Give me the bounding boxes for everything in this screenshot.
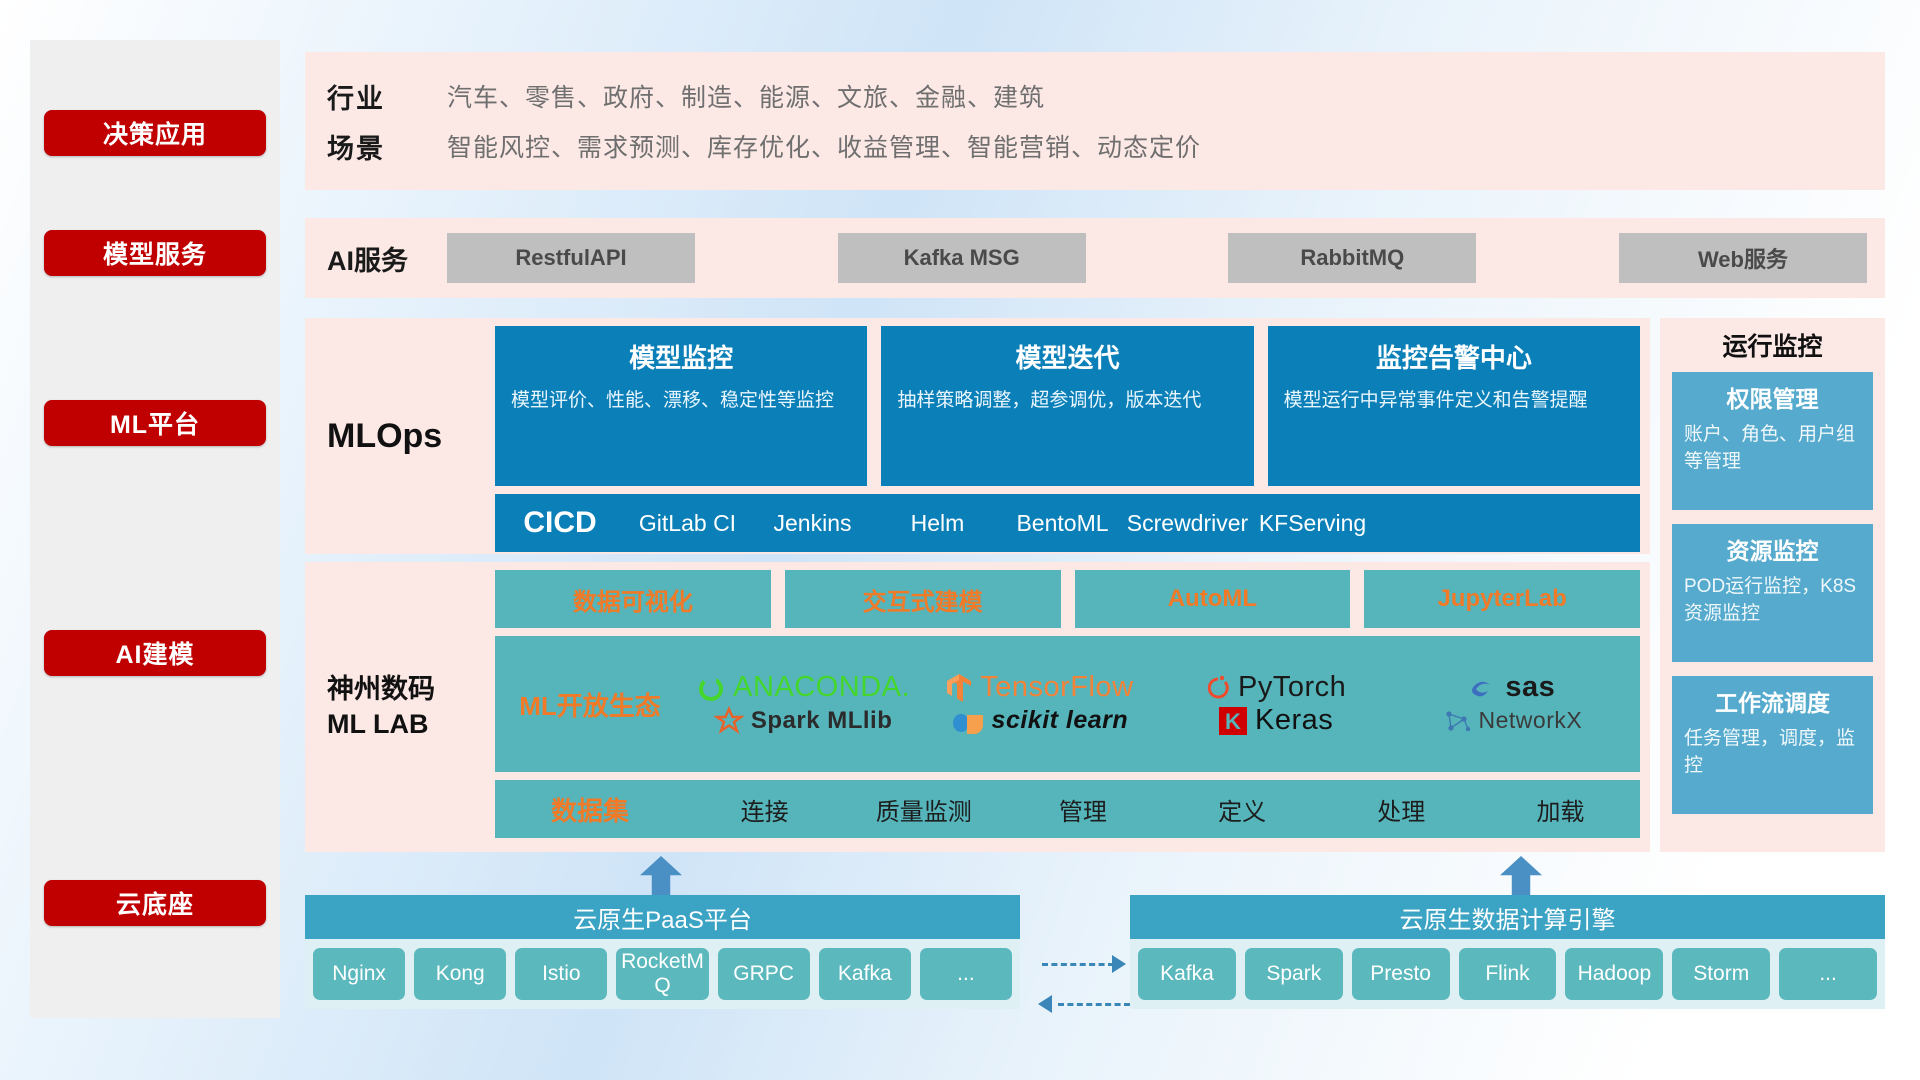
- ai-service-chip-rabbitmq[interactable]: RabbitMQ: [1228, 233, 1476, 283]
- ai-modeling-band: 神州数码 ML LAB 数据可视化 交互式建模 AutoML JupyterLa…: [305, 562, 1650, 852]
- arrow-up-data-engine: [1500, 856, 1542, 896]
- dashed-arrow-left-icon: [1038, 995, 1052, 1013]
- data-engine-chip-spark[interactable]: Spark: [1245, 948, 1343, 1000]
- cicd-row: CICD GitLab CI Jenkins Helm BentoML Scre…: [495, 494, 1640, 552]
- sas-icon: [1468, 673, 1498, 703]
- rail-item-decision-app[interactable]: 决策应用: [44, 110, 266, 156]
- mlops-label: MLOps: [327, 318, 487, 554]
- card-title: 资源监控: [1684, 532, 1861, 566]
- ai-service-chip-web[interactable]: Web服务: [1619, 233, 1867, 283]
- data-engine-chip-flink[interactable]: Flink: [1459, 948, 1557, 1000]
- sas-logo: sas: [1468, 671, 1555, 704]
- keras-icon: K: [1218, 706, 1248, 736]
- cicd-label: CICD: [495, 506, 625, 540]
- card-desc: 模型评价、性能、漂移、稳定性等监控: [511, 387, 851, 415]
- paas-chip-rocketmq[interactable]: RocketMQ: [616, 948, 708, 1000]
- ml-ecosystem-title: ML开放生态: [495, 686, 685, 723]
- tool-chip-interactive-modeling[interactable]: 交互式建模: [785, 570, 1061, 628]
- data-engine-chip-presto[interactable]: Presto: [1352, 948, 1450, 1000]
- networkx-logo: NetworkX: [1442, 706, 1583, 736]
- anaconda-label: ANACONDA.: [733, 671, 910, 704]
- rail-label: AI建模: [115, 635, 194, 671]
- paas-foundation: 云原生PaaS平台 Nginx Kong Istio RocketMQ GRPC…: [305, 895, 1020, 1009]
- mlops-band: MLOps 模型监控 模型评价、性能、漂移、稳定性等监控 模型迭代 抽样策略调整…: [305, 318, 1650, 554]
- ai-service-band: AI服务 RestfulAPI Kafka MSG RabbitMQ Web服务: [305, 218, 1885, 298]
- ml-lab-label-line1: 神州数码: [327, 672, 435, 707]
- rail-label: ML平台: [110, 405, 200, 441]
- tensorflow-logo: TensorFlow: [945, 671, 1133, 704]
- dataset-row: 数据集 连接 质量监测 管理 定义 处理 加载: [495, 780, 1640, 838]
- card-title: 监控告警中心: [1284, 338, 1624, 375]
- dataset-item-define[interactable]: 定义: [1163, 792, 1322, 827]
- data-engine-chip-kafka[interactable]: Kafka: [1138, 948, 1236, 1000]
- cicd-item-jenkins[interactable]: Jenkins: [750, 508, 875, 538]
- industry-values: 汽车、零售、政府、制造、能源、文旅、金融、建筑: [447, 78, 1045, 114]
- dashed-line-left: [1058, 1003, 1130, 1006]
- mlops-card-model-monitoring[interactable]: 模型监控 模型评价、性能、漂移、稳定性等监控: [495, 326, 867, 486]
- paas-chip-grpc[interactable]: GRPC: [718, 948, 810, 1000]
- paas-chip-more[interactable]: ...: [920, 948, 1012, 1000]
- industry-row: 行业 汽车、零售、政府、制造、能源、文旅、金融、建筑: [327, 71, 1885, 121]
- card-desc: 账户、角色、用户组等管理: [1684, 422, 1861, 475]
- paas-chips: Nginx Kong Istio RocketMQ GRPC Kafka ...: [305, 939, 1020, 1009]
- cicd-item-screwdriver[interactable]: Screwdriver: [1125, 508, 1250, 538]
- paas-chip-istio[interactable]: Istio: [515, 948, 607, 1000]
- ml-lab-label: 神州数码 ML LAB: [327, 562, 497, 852]
- pytorch-logo: PyTorch: [1205, 671, 1346, 704]
- cicd-item-helm[interactable]: Helm: [875, 508, 1000, 538]
- dashed-line-right: [1042, 963, 1114, 966]
- runtime-monitor-title: 运行监控: [1660, 318, 1885, 372]
- monitor-card-resource[interactable]: 资源监控 POD运行监控，K8S资源监控: [1672, 524, 1873, 662]
- industry-label: 行业: [327, 77, 447, 116]
- spark-star-icon: [714, 706, 744, 736]
- dataset-item-quality[interactable]: 质量监测: [844, 792, 1003, 827]
- rail-item-ai-modeling[interactable]: AI建模: [44, 630, 266, 676]
- paas-chip-kong[interactable]: Kong: [414, 948, 506, 1000]
- data-engine-chip-hadoop[interactable]: Hadoop: [1565, 948, 1663, 1000]
- rail-label: 模型服务: [103, 235, 207, 271]
- spark-mllib-label: Spark MLlib: [751, 707, 893, 735]
- tool-chip-data-visualization[interactable]: 数据可视化: [495, 570, 771, 628]
- card-desc: 模型运行中异常事件定义和告警提醒: [1284, 387, 1624, 415]
- card-title: 权限管理: [1684, 380, 1861, 414]
- mlops-card-model-iteration[interactable]: 模型迭代 抽样策略调整，超参调优，版本迭代: [881, 326, 1253, 486]
- svg-text:K: K: [1225, 709, 1241, 734]
- ml-ecosystem-row: ML开放生态 ANACONDA. TensorFlow: [495, 636, 1640, 772]
- card-title: 工作流调度: [1684, 684, 1861, 718]
- ai-service-items: RestfulAPI Kafka MSG RabbitMQ Web服务: [447, 233, 1885, 283]
- dashed-arrow-right-icon: [1112, 955, 1126, 973]
- spark-mllib-logo: Spark MLlib: [714, 706, 893, 736]
- tool-chip-jupyterlab[interactable]: JupyterLab: [1364, 570, 1640, 628]
- pytorch-label: PyTorch: [1238, 671, 1346, 704]
- keras-logo: K Keras: [1218, 704, 1333, 737]
- ai-service-chip-restfulapi[interactable]: RestfulAPI: [447, 233, 695, 283]
- data-engine-chip-storm[interactable]: Storm: [1672, 948, 1770, 1000]
- ml-ecosystem-logos: ANACONDA. TensorFlow PyTorch: [685, 671, 1640, 737]
- monitor-card-workflow[interactable]: 工作流调度 任务管理，调度，监控: [1672, 676, 1873, 814]
- left-rail: 决策应用 模型服务 ML平台 AI建模 云底座: [30, 40, 280, 1018]
- data-engine-foundation: 云原生数据计算引擎 Kafka Spark Presto Flink Hadoo…: [1130, 895, 1885, 1009]
- data-engine-title: 云原生数据计算引擎: [1130, 895, 1885, 939]
- card-title: 模型监控: [511, 338, 851, 375]
- anaconda-logo: ANACONDA.: [696, 671, 910, 704]
- rail-label: 决策应用: [103, 115, 207, 151]
- scenario-label: 场景: [327, 127, 447, 166]
- scikit-learn-label: scikit learn: [992, 706, 1129, 735]
- sas-label: sas: [1505, 671, 1555, 704]
- cicd-item-bentoml[interactable]: BentoML: [1000, 508, 1125, 538]
- paas-title: 云原生PaaS平台: [305, 895, 1020, 939]
- monitor-card-permission[interactable]: 权限管理 账户、角色、用户组等管理: [1672, 372, 1873, 510]
- keras-label: Keras: [1255, 704, 1333, 737]
- dataset-item-process[interactable]: 处理: [1322, 792, 1481, 827]
- scenario-row: 场景 智能风控、需求预测、库存优化、收益管理、智能营销、动态定价: [327, 121, 1885, 171]
- mlops-card-alert-center[interactable]: 监控告警中心 模型运行中异常事件定义和告警提醒: [1268, 326, 1640, 486]
- rail-item-model-service[interactable]: 模型服务: [44, 230, 266, 276]
- tensorflow-label: TensorFlow: [980, 671, 1133, 704]
- dataset-items: 连接 质量监测 管理 定义 处理 加载: [685, 792, 1640, 827]
- paas-chip-kafka[interactable]: Kafka: [819, 948, 911, 1000]
- card-desc: 抽样策略调整，超参调优，版本迭代: [897, 387, 1237, 415]
- rail-item-cloud-base[interactable]: 云底座: [44, 880, 266, 926]
- arrow-up-paas: [640, 856, 682, 896]
- scenario-values: 智能风控、需求预测、库存优化、收益管理、智能营销、动态定价: [447, 128, 1201, 164]
- modeling-tools-row: 数据可视化 交互式建模 AutoML JupyterLab: [495, 570, 1640, 628]
- paas-chip-nginx[interactable]: Nginx: [313, 948, 405, 1000]
- rail-label: 云底座: [116, 885, 194, 921]
- pytorch-icon: [1205, 673, 1231, 703]
- mlops-cards: 模型监控 模型评价、性能、漂移、稳定性等监控 模型迭代 抽样策略调整，超参调优，…: [495, 326, 1640, 486]
- industry-scenario-band: 行业 汽车、零售、政府、制造、能源、文旅、金融、建筑 场景 智能风控、需求预测、…: [305, 52, 1885, 190]
- anaconda-icon: [696, 673, 726, 703]
- scikit-learn-logo: scikit learn: [951, 706, 1129, 736]
- rail-item-ml-platform[interactable]: ML平台: [44, 400, 266, 446]
- networkx-label: NetworkX: [1479, 707, 1583, 734]
- card-title: 模型迭代: [897, 338, 1237, 375]
- tool-chip-automl[interactable]: AutoML: [1075, 570, 1351, 628]
- runtime-monitor-panel: 运行监控 权限管理 账户、角色、用户组等管理 资源监控 POD运行监控，K8S资…: [1660, 318, 1885, 852]
- cicd-items: GitLab CI Jenkins Helm BentoML Screwdriv…: [625, 508, 1640, 538]
- dataset-item-manage[interactable]: 管理: [1003, 792, 1162, 827]
- ml-lab-label-line2: ML LAB: [327, 707, 429, 742]
- cicd-item-gitlab-ci[interactable]: GitLab CI: [625, 508, 750, 538]
- networkx-icon: [1442, 706, 1472, 736]
- tensorflow-icon: [945, 672, 973, 704]
- card-desc: 任务管理，调度，监控: [1684, 726, 1861, 779]
- data-engine-chips: Kafka Spark Presto Flink Hadoop Storm ..…: [1130, 939, 1885, 1009]
- data-engine-chip-more[interactable]: ...: [1779, 948, 1877, 1000]
- cicd-item-kfserving[interactable]: KFServing: [1250, 508, 1375, 538]
- dataset-title: 数据集: [495, 791, 685, 828]
- ai-service-label: AI服务: [327, 239, 447, 278]
- scikit-learn-icon: [951, 706, 985, 736]
- card-desc: POD运行监控，K8S资源监控: [1684, 574, 1861, 627]
- dataset-item-connect[interactable]: 连接: [685, 792, 844, 827]
- dataset-item-load[interactable]: 加载: [1481, 792, 1640, 827]
- ai-service-chip-kafka-msg[interactable]: Kafka MSG: [838, 233, 1086, 283]
